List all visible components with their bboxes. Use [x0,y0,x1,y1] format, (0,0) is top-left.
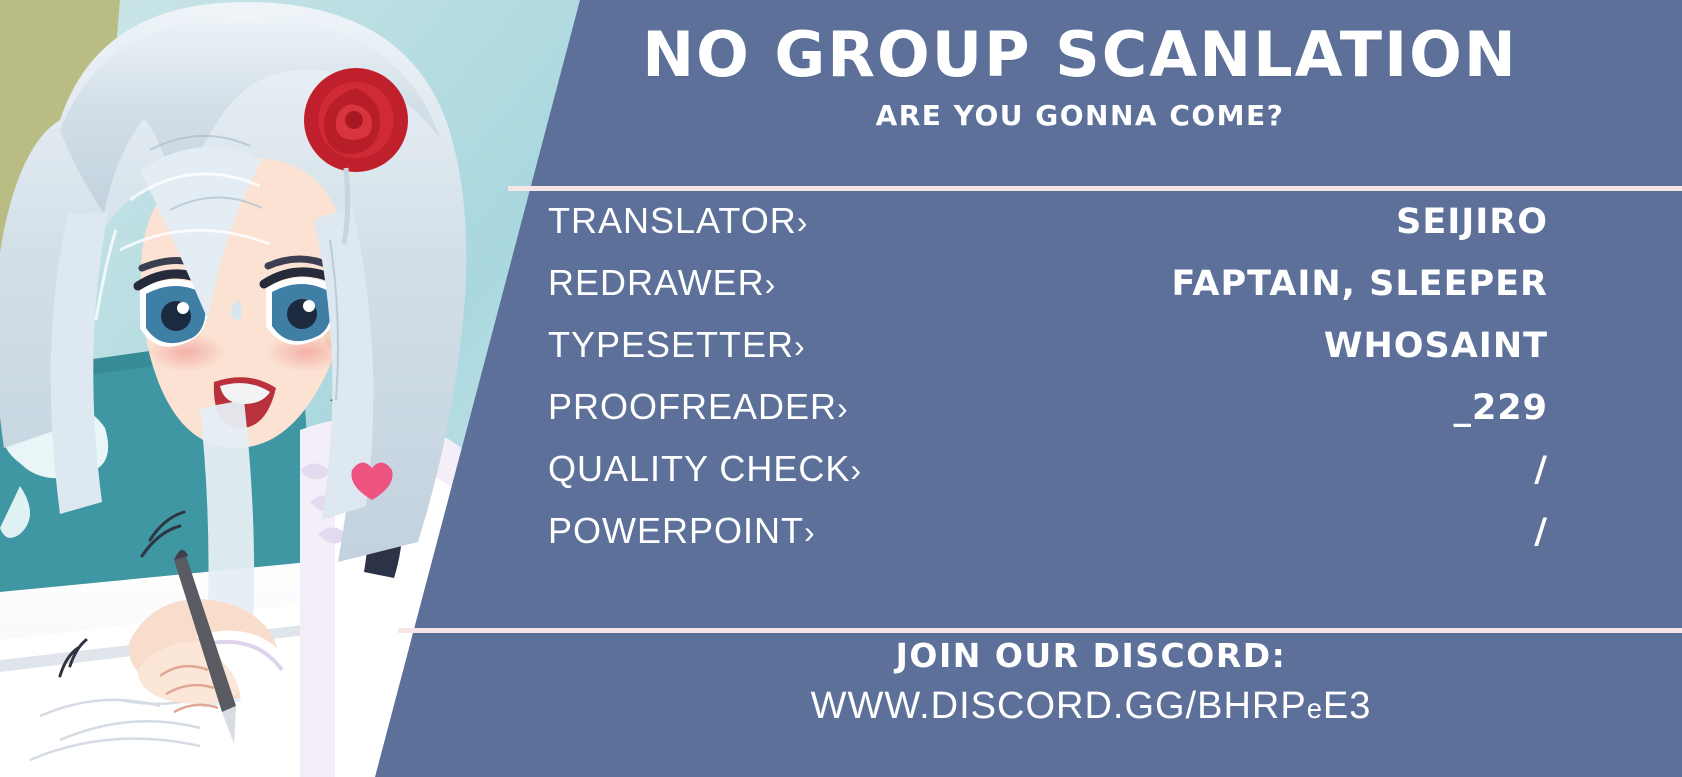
discord-url-suffix: E3 [1323,685,1371,727]
credit-label: TRANSLATOR› [548,200,808,242]
page-title: NO GROUP SCANLATION [500,22,1660,87]
credits-list: TRANSLATOR› SEIJIRO REDRAWER› FAPTAIN, S… [548,200,1548,572]
credit-label: PROOFREADER› [548,386,849,428]
page-subtitle: ARE YOU GONNA COME? [500,99,1660,132]
credit-row-typesetter: TYPESETTER› WHOSAINT [548,324,1548,386]
credit-value: / [1534,450,1548,490]
chevron-right-icon: › [837,390,849,426]
credit-label-text: TYPESETTER [548,324,794,365]
discord-heading: JOIN OUR DISCORD: [500,636,1682,675]
credit-label: REDRAWER› [548,262,776,304]
credit-value: WHOSAINT [1324,326,1548,366]
credit-label-text: POWERPOINT [548,510,804,551]
credit-label: POWERPOINT› [548,510,816,552]
discord-url[interactable]: WWW.DISCORD.GG/BHRPeE3 [500,685,1682,728]
credit-label-text: TRANSLATOR [548,200,797,241]
credit-label: TYPESETTER› [548,324,806,366]
credit-row-proofreader: PROOFREADER› _229 [548,386,1548,448]
credit-value: FAPTAIN, SLEEPER [1171,264,1548,304]
credit-label: QUALITY CHECK› [548,448,862,490]
credit-row-translator: TRANSLATOR› SEIJIRO [548,200,1548,262]
divider-bottom [398,628,1682,633]
divider-top [508,186,1682,191]
credit-row-quality-check: QUALITY CHECK› / [548,448,1548,510]
chevron-right-icon: › [804,514,816,550]
credits-page: NO GROUP SCANLATION ARE YOU GONNA COME? … [0,0,1682,777]
discord-url-prefix: WWW.DISCORD.GG/BHRP [811,685,1307,727]
chevron-right-icon: › [765,266,777,302]
credit-row-powerpoint: POWERPOINT› / [548,510,1548,572]
chevron-right-icon: › [797,204,809,240]
credit-value: _229 [1453,388,1548,428]
chevron-right-icon: › [794,328,806,364]
credit-label-text: QUALITY CHECK [548,448,850,489]
credit-value: SEIJIRO [1396,202,1548,242]
header-block: NO GROUP SCANLATION ARE YOU GONNA COME? [500,22,1660,132]
credit-label-text: PROOFREADER [548,386,837,427]
discord-url-smallcap: e [1307,693,1323,724]
panel-content: NO GROUP SCANLATION ARE YOU GONNA COME? … [0,0,1682,777]
footer-block: JOIN OUR DISCORD: WWW.DISCORD.GG/BHRPeE3 [500,636,1682,728]
credit-value: / [1534,512,1548,552]
credit-row-redrawer: REDRAWER› FAPTAIN, SLEEPER [548,262,1548,324]
chevron-right-icon: › [850,452,862,488]
credit-label-text: REDRAWER [548,262,765,303]
